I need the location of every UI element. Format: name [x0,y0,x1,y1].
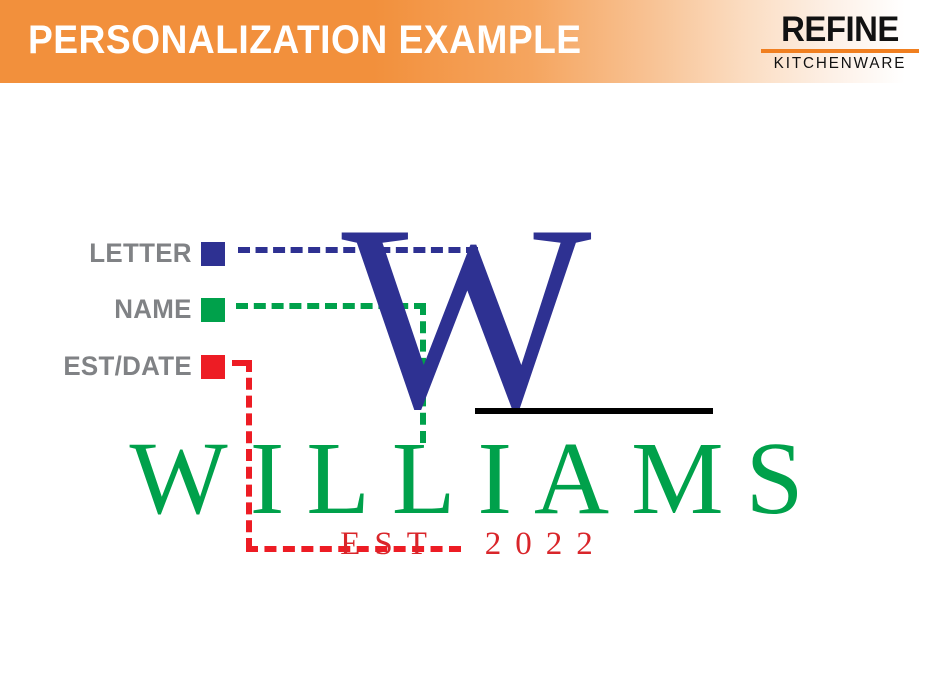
page-title: PERSONALIZATION EXAMPLE [28,18,582,63]
brand-logo: REFINE KITCHENWARE [761,12,919,73]
monogram-initial: W [0,185,933,450]
monogram-family-name: WILLIAMS [0,427,933,531]
brand-subtitle: KITCHENWARE [765,55,915,73]
monogram-established-date: EST 2022 [0,528,933,561]
page-header: PERSONALIZATION EXAMPLE REFINE KITCHENWA… [0,0,933,83]
monogram-divider-rule [475,408,713,414]
brand-rule-divider [761,49,919,53]
brand-name: REFINE [766,12,915,48]
